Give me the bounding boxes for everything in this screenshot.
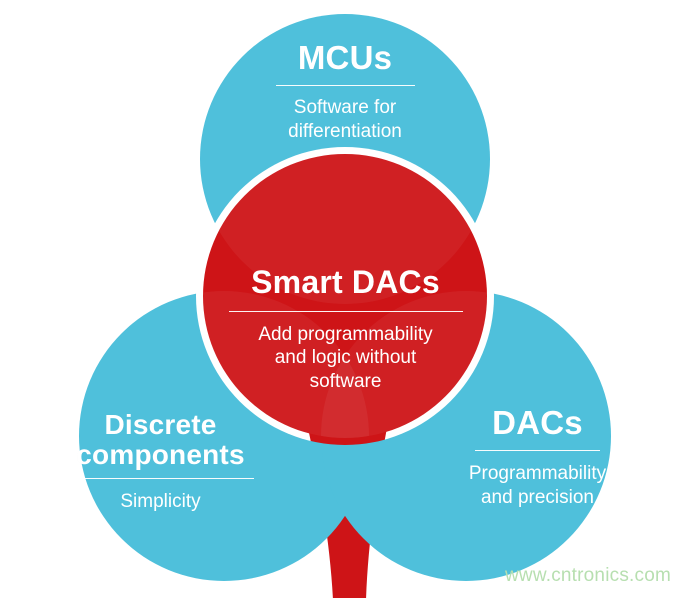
node-smart-dacs[interactable]: Smart DACs Add programmability and logic…: [205, 265, 486, 394]
node-discrete-components[interactable]: Discrete components Simplicity: [40, 410, 281, 514]
diagram-canvas: MCUs Software for differentiation Smart …: [0, 0, 689, 598]
node-smart-dacs-subtitle: Add programmability and logic without so…: [205, 323, 486, 395]
node-discrete-components-title-line-2: components: [40, 440, 281, 470]
node-dacs-subtitle-line-2: and precision: [425, 486, 650, 510]
node-mcus-subtitle-line-2: differentiation: [240, 120, 450, 144]
node-mcus-title: MCUs: [240, 40, 450, 76]
node-mcus-subtitle-line-1: Software for: [240, 96, 450, 120]
node-discrete-components-divider: [67, 478, 254, 479]
watermark-text: www.cntronics.com: [505, 565, 671, 587]
node-discrete-components-title-line-1: Discrete: [40, 410, 281, 440]
node-smart-dacs-title: Smart DACs: [205, 265, 486, 300]
node-mcus-subtitle: Software for differentiation: [240, 96, 450, 144]
node-dacs-title: DACs: [425, 405, 650, 441]
node-smart-dacs-divider: [229, 311, 463, 312]
node-dacs-subtitle-line-1: Programmability: [425, 462, 650, 486]
node-smart-dacs-subtitle-line-1: Add programmability: [205, 323, 486, 347]
node-dacs[interactable]: DACs Programmability and precision: [425, 405, 650, 510]
node-mcus-divider: [276, 85, 415, 86]
node-dacs-divider: [475, 450, 600, 451]
node-mcus[interactable]: MCUs Software for differentiation: [240, 40, 450, 144]
node-discrete-components-title: Discrete components: [40, 410, 281, 470]
node-discrete-components-subtitle: Simplicity: [40, 490, 281, 514]
node-discrete-components-subtitle-line-1: Simplicity: [40, 490, 281, 514]
node-smart-dacs-subtitle-line-3: software: [205, 370, 486, 394]
node-smart-dacs-subtitle-line-2: and logic without: [205, 346, 486, 370]
node-dacs-subtitle: Programmability and precision: [425, 462, 650, 510]
